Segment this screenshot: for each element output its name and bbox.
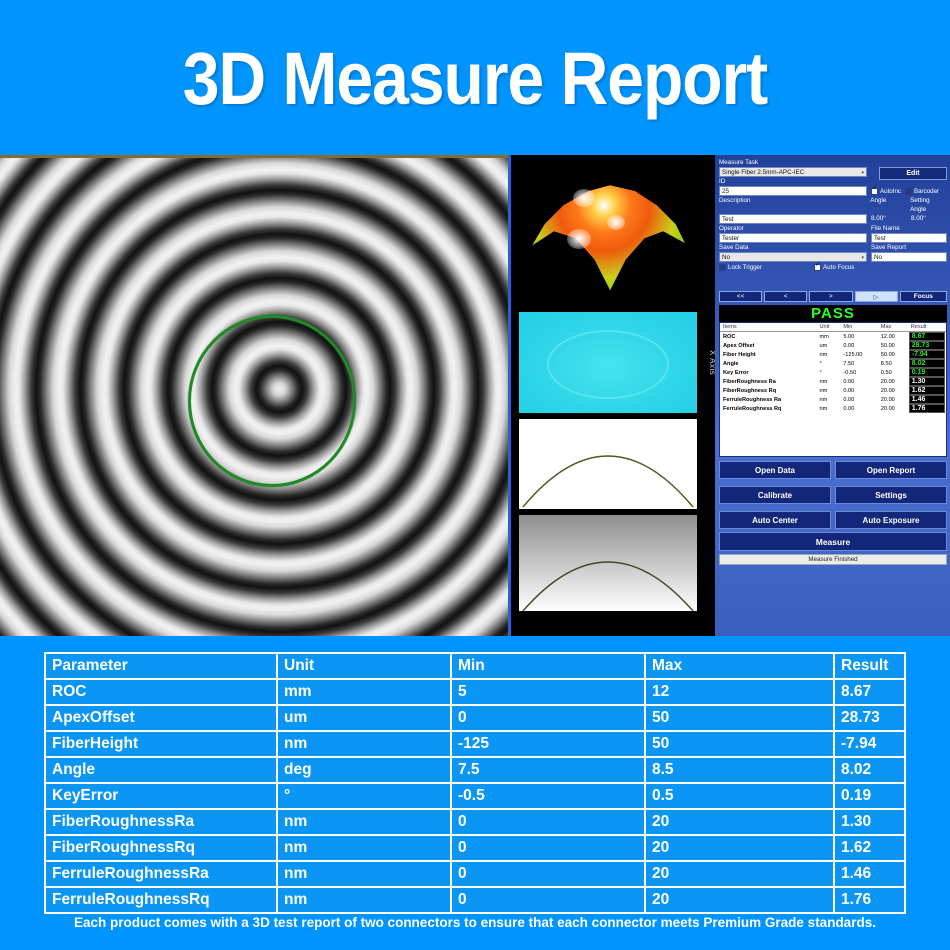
spec-cell: Result	[834, 653, 905, 679]
action-button-grid: Open Data Open Report Calibrate Settings…	[719, 461, 947, 565]
spec-cell: 0.19	[834, 783, 905, 809]
results-col-min: Min	[840, 323, 877, 332]
results-col-items: Items	[720, 323, 817, 332]
operator-label: Operator	[719, 224, 867, 233]
autoinc-checkbox[interactable]: AutoInc	[871, 188, 901, 195]
spec-cell: Angle	[45, 757, 277, 783]
spec-cell: nm	[277, 835, 451, 861]
results-value-badge: 0.19	[909, 368, 945, 377]
calibrate-button[interactable]: Calibrate	[719, 486, 831, 504]
spec-cell: 50	[645, 705, 834, 731]
spec-cell: 8.67	[834, 679, 905, 705]
results-cell-min: 0.00	[840, 377, 877, 386]
results-cell-item: Angle	[720, 359, 817, 368]
interferometric-map-view	[519, 312, 697, 413]
results-cell-max: 20.00	[878, 377, 908, 386]
results-value-badge: -7.94	[909, 350, 945, 359]
results-row: Apex Offsetum0.0050.0028.73	[720, 341, 946, 350]
settings-button[interactable]: Settings	[835, 486, 947, 504]
nav-play-button[interactable]: ▷	[855, 291, 898, 302]
spec-cell: FiberHeight	[45, 731, 277, 757]
profile-curve-svg	[519, 419, 697, 509]
chevron-down-icon: ▾	[861, 253, 864, 262]
3d-surface-mesh	[529, 177, 685, 295]
measure-task-value: Single Fiber 2.5mm-APC-IEC	[722, 169, 804, 176]
spec-cell: 0	[451, 705, 645, 731]
spec-cell: 1.30	[834, 809, 905, 835]
spec-table-row: FiberHeightnm-12550-7.94	[45, 731, 905, 757]
results-cell-max: 8.50	[878, 359, 908, 368]
auto-focus-checkbox[interactable]: Auto Focus	[814, 264, 854, 271]
chevron-down-icon: ▾	[861, 168, 864, 177]
results-cell-max: 20.00	[878, 404, 908, 413]
open-data-button[interactable]: Open Data	[719, 461, 831, 479]
results-cell-result: 8.67	[908, 332, 946, 342]
lock-trigger-checkbox[interactable]: Lock Trigger	[719, 264, 762, 271]
spec-cell: nm	[277, 861, 451, 887]
spec-cell: -125	[451, 731, 645, 757]
checkbox-checked-icon	[814, 264, 821, 271]
results-cell-item: FiberRoughness Ra	[720, 377, 817, 386]
save-report-label: Save Report	[871, 243, 906, 252]
nav-next-button[interactable]: >	[809, 291, 852, 302]
spec-cell: 12	[645, 679, 834, 705]
spec-cell: -7.94	[834, 731, 905, 757]
spec-table-row: FerruleRoughnessRqnm0201.76	[45, 887, 905, 913]
results-cell-unit: nm	[817, 377, 841, 386]
file-name-input[interactable]: Test	[871, 233, 947, 243]
save-data-label: Save Data	[719, 243, 867, 252]
spec-cell: 8.02	[834, 757, 905, 783]
status-bar: Measure Finished	[719, 554, 947, 565]
surface-highlight-icon	[607, 215, 625, 230]
spec-cell: 0	[451, 887, 645, 913]
spec-cell: nm	[277, 731, 451, 757]
results-cell-item: FerruleRoughness Ra	[720, 395, 817, 404]
spec-cell: 0	[451, 809, 645, 835]
pass-status-banner: PASS	[719, 305, 947, 322]
spec-cell: FiberRoughnessRq	[45, 835, 277, 861]
results-row: FerruleRoughness Rqnm0.0020.001.76	[720, 404, 946, 413]
spec-cell: 0	[451, 861, 645, 887]
image-top-border	[0, 155, 508, 158]
spec-header-row: ParameterUnitMinMaxResult	[45, 653, 905, 679]
results-cell-unit: um	[817, 341, 841, 350]
results-value-badge: 1.46	[909, 395, 945, 404]
surface-highlight-icon	[567, 229, 591, 249]
results-cell-min: -0.50	[840, 368, 877, 377]
spec-table-row: FiberRoughnessRanm0201.30	[45, 809, 905, 835]
results-value-badge: 1.30	[909, 377, 945, 386]
results-cell-min: 7.50	[840, 359, 877, 368]
results-cell-unit: mm	[817, 332, 841, 342]
results-row: FiberRoughness Rqnm0.0020.001.62	[720, 386, 946, 395]
operator-input[interactable]: Tester	[719, 233, 867, 243]
results-cell-result: 1.76	[908, 404, 946, 413]
specification-table: ParameterUnitMinMaxResultROCmm5128.67Ape…	[44, 652, 906, 914]
results-row: FiberRoughness Ranm0.0020.001.30	[720, 377, 946, 386]
spec-cell: 0.5	[645, 783, 834, 809]
results-cell-min: 0.00	[840, 395, 877, 404]
spec-cell: Max	[645, 653, 834, 679]
title-bar: 3D Measure Report	[0, 0, 950, 155]
setting-angle-label: Setting Angle	[910, 196, 947, 214]
results-row: Angle°7.508.508.02	[720, 359, 946, 368]
surface-highlight-icon	[573, 189, 595, 207]
profile-curve-svg-secondary	[519, 515, 697, 611]
results-cell-item: FerruleRoughness Rq	[720, 404, 817, 413]
results-row: ROCmm5.0012.008.67	[720, 332, 946, 342]
analysis-views-column: X Axis	[508, 155, 718, 636]
lock-trigger-label: Lock Trigger	[728, 264, 762, 271]
spec-cell: 20	[645, 861, 834, 887]
results-cell-max: 0.50	[878, 368, 908, 377]
results-cell-result: 28.73	[908, 341, 946, 350]
angle-label: Angle	[870, 196, 906, 214]
results-col-result: Result	[908, 323, 946, 332]
results-row: Fiber Heightnm-125.0050.00-7.94	[720, 350, 946, 359]
results-cell-unit: °	[817, 359, 841, 368]
setting-angle-value: 8.00°	[911, 214, 926, 224]
fiber-detection-circle-overlay	[188, 315, 356, 487]
spec-cell: nm	[277, 887, 451, 913]
measure-button[interactable]: Measure	[719, 532, 947, 551]
profile-curve-view	[519, 419, 697, 509]
spec-cell: 20	[645, 887, 834, 913]
spec-cell: 20	[645, 835, 834, 861]
checkbox-checked-icon	[871, 188, 878, 195]
results-cell-max: 50.00	[878, 350, 908, 359]
open-report-button[interactable]: Open Report	[835, 461, 947, 479]
results-value-badge: 1.76	[909, 404, 945, 413]
results-col-unit: Unit	[817, 323, 841, 332]
profile-curve-view-secondary	[519, 515, 697, 611]
spec-cell: FerruleRoughnessRq	[45, 887, 277, 913]
results-cell-result: 1.46	[908, 395, 946, 404]
auto-center-button[interactable]: Auto Center	[719, 511, 831, 529]
results-cell-result: 1.30	[908, 377, 946, 386]
autoinc-label: AutoInc	[880, 188, 901, 195]
spec-cell: um	[277, 705, 451, 731]
spec-cell: KeyError	[45, 783, 277, 809]
description-input[interactable]: Test	[719, 214, 867, 224]
file-name-label: File Name	[871, 224, 900, 233]
spec-cell: Unit	[277, 653, 451, 679]
results-cell-unit: nm	[817, 386, 841, 395]
footer-note: Each product comes with a 3D test report…	[0, 915, 950, 930]
interferogram-image	[0, 155, 508, 636]
spec-cell: FiberRoughnessRa	[45, 809, 277, 835]
results-cell-min: 5.00	[840, 332, 877, 342]
spec-table-row: FiberRoughnessRqnm0201.62	[45, 835, 905, 861]
spec-cell: 28.73	[834, 705, 905, 731]
spec-cell: nm	[277, 809, 451, 835]
nav-first-button[interactable]: <<	[719, 291, 762, 302]
results-value-badge: 8.67	[909, 332, 945, 341]
results-cell-item: Apex Offset	[720, 341, 817, 350]
measurement-results-table: Items Unit Min Max Result ROCmm5.0012.00…	[719, 322, 947, 457]
spec-cell: °	[277, 783, 451, 809]
spec-cell: ApexOffset	[45, 705, 277, 731]
angle-value: 8.00°	[871, 214, 907, 224]
results-cell-item: Key Error	[720, 368, 817, 377]
results-cell-item: Fiber Height	[720, 350, 817, 359]
id-input[interactable]: 25	[719, 186, 867, 196]
3d-surface-view	[515, 159, 697, 307]
results-cell-item: ROC	[720, 332, 817, 342]
results-cell-min: 0.00	[840, 341, 877, 350]
spec-cell: 1.62	[834, 835, 905, 861]
results-cell-result: 8.02	[908, 359, 946, 368]
results-value-badge: 1.62	[909, 386, 945, 395]
barcoder-label: Barcoder	[914, 188, 939, 195]
page-title: 3D Measure Report	[183, 35, 768, 120]
spec-cell: 50	[645, 731, 834, 757]
spec-table-row: Angledeg7.58.58.02	[45, 757, 905, 783]
spec-cell: ROC	[45, 679, 277, 705]
spec-cell: FerruleRoughnessRa	[45, 861, 277, 887]
results-cell-result: 0.19	[908, 368, 946, 377]
spec-cell: 20	[645, 809, 834, 835]
auto-focus-label: Auto Focus	[823, 264, 854, 271]
measure-task-select[interactable]: Single Fiber 2.5mm-APC-IEC ▾	[719, 167, 867, 177]
results-value-badge: 28.73	[909, 341, 945, 350]
spec-cell: 0	[451, 835, 645, 861]
spec-cell: Parameter	[45, 653, 277, 679]
checkbox-unchecked-icon	[719, 264, 726, 271]
spec-table-row: FerruleRoughnessRanm0201.46	[45, 861, 905, 887]
save-data-value: No	[722, 254, 730, 261]
results-row: FerruleRoughness Ranm0.0020.001.46	[720, 395, 946, 404]
results-cell-min: 0.00	[840, 404, 877, 413]
results-cell-max: 50.00	[878, 341, 908, 350]
results-cell-item: FiberRoughness Rq	[720, 386, 817, 395]
results-col-max: Max	[878, 323, 908, 332]
results-cell-max: 20.00	[878, 386, 908, 395]
spec-table-row: ApexOffsetum05028.73	[45, 705, 905, 731]
nav-prev-button[interactable]: <	[764, 291, 807, 302]
spec-cell: 1.76	[834, 887, 905, 913]
results-cell-min: -125.00	[840, 350, 877, 359]
results-cell-max: 12.00	[878, 332, 908, 342]
results-cell-unit: nm	[817, 395, 841, 404]
spec-cell: Min	[451, 653, 645, 679]
spec-cell: deg	[277, 757, 451, 783]
save-data-select[interactable]: No ▾	[719, 252, 867, 262]
results-cell-result: -7.94	[908, 350, 946, 359]
results-row: Key Error°-0.500.500.19	[720, 368, 946, 377]
results-cell-unit: °	[817, 368, 841, 377]
results-cell-result: 1.62	[908, 386, 946, 395]
checkbox-unchecked-icon	[905, 188, 912, 195]
save-report-select[interactable]: No	[871, 252, 947, 262]
spec-cell: 8.5	[645, 757, 834, 783]
spec-cell: -0.5	[451, 783, 645, 809]
auto-exposure-button[interactable]: Auto Exposure	[835, 511, 947, 529]
edit-button[interactable]: Edit	[879, 167, 947, 180]
spec-table-row: ROCmm5128.67	[45, 679, 905, 705]
spec-table-row: KeyError°-0.50.50.19	[45, 783, 905, 809]
spec-cell: 7.5	[451, 757, 645, 783]
spec-cell: 1.46	[834, 861, 905, 887]
results-header-row: Items Unit Min Max Result	[720, 323, 946, 332]
results-cell-max: 20.00	[878, 395, 908, 404]
results-value-badge: 8.02	[909, 359, 945, 368]
spec-cell: 5	[451, 679, 645, 705]
measurement-screenshot-strip: X Axis Measure Task Single Fiber 2.5mm-A…	[0, 155, 950, 636]
results-cell-unit: nm	[817, 350, 841, 359]
results-cell-min: 0.00	[840, 386, 877, 395]
results-cell-unit: nm	[817, 404, 841, 413]
barcoder-checkbox[interactable]: Barcoder	[905, 188, 939, 195]
measurement-software-window: Measure Task Single Fiber 2.5mm-APC-IEC …	[715, 155, 950, 636]
navigation-button-row: << < > ▷ Focus	[719, 291, 947, 302]
spec-cell: mm	[277, 679, 451, 705]
focus-button[interactable]: Focus	[900, 291, 947, 302]
description-label: Description	[719, 196, 866, 214]
measure-task-label: Measure Task	[719, 158, 947, 167]
